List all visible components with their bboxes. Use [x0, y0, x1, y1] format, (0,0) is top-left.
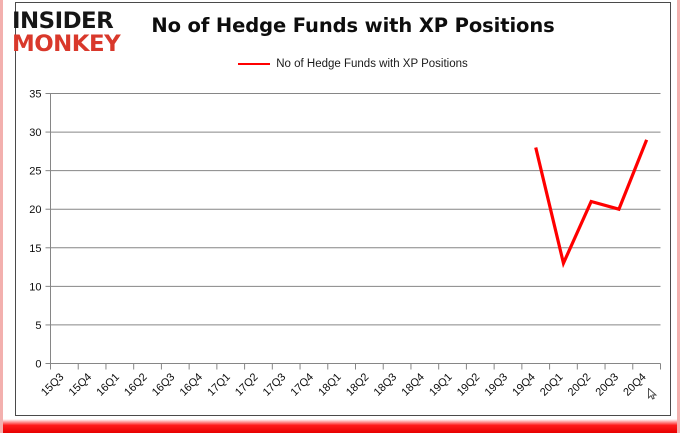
- cursor-icon: [648, 388, 658, 400]
- chart-legend: No of Hedge Funds with XP Positions: [143, 58, 563, 70]
- chart-page: INSIDER MONKEY No of Hedge Funds with XP…: [0, 0, 680, 433]
- logo-line-monkey: MONKEY: [12, 34, 143, 56]
- chart-title: No of Hedge Funds with XP Positions: [143, 14, 563, 37]
- insider-monkey-logo: INSIDER MONKEY: [12, 11, 138, 56]
- legend-color-swatch: [238, 63, 270, 65]
- logo-line-insider: INSIDER: [12, 11, 143, 33]
- legend-item-label: No of Hedge Funds with XP Positions: [276, 58, 468, 70]
- bottom-accent-bar: [3, 419, 677, 433]
